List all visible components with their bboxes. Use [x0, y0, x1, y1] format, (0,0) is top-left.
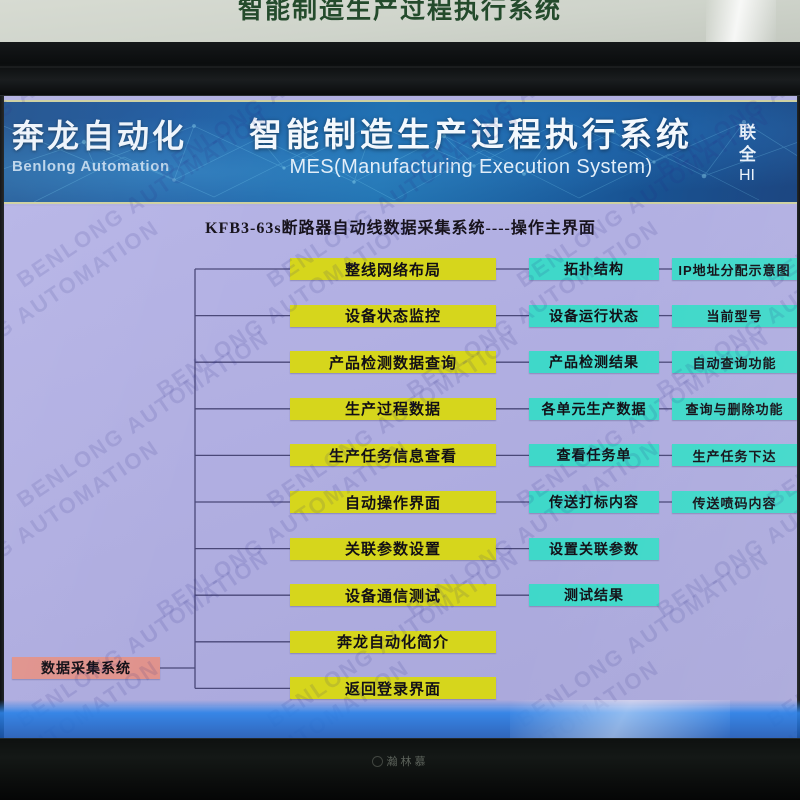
- menu-item-level1-8[interactable]: 奔龙自动化简介: [290, 631, 496, 653]
- wall-sign-text: 智能制造生产过程执行系统: [0, 0, 800, 26]
- menu-item-level2-4[interactable]: 查看任务单: [529, 444, 659, 466]
- menu-item-level3-1[interactable]: 当前型号: [672, 305, 797, 327]
- menu-item-level2-6[interactable]: 设置关联参数: [529, 538, 659, 560]
- system-title-cn: 智能制造生产过程执行系统: [236, 116, 706, 154]
- menu-item-level1-2[interactable]: 产品检测数据查询: [290, 351, 496, 373]
- menu-item-level2-3[interactable]: 各单元生产数据: [529, 398, 659, 420]
- main-workspace: KFB3-63s断路器自动线数据采集系统----操作主界面 数据采集系统整线网络…: [4, 206, 797, 706]
- menu-item-level1-5[interactable]: 自动操作界面: [290, 491, 496, 513]
- monitor-brand-text: 瀚林慕: [387, 753, 429, 769]
- background-wall: 智能制造生产过程执行系统: [0, 0, 800, 44]
- menu-item-level2-2[interactable]: 产品检测结果: [529, 351, 659, 373]
- app-banner: 奔龙自动化 Benlong Automation 智能制造生产过程执行系统 ME…: [4, 100, 797, 204]
- menu-tree-diagram: 数据采集系统整线网络布局拓扑结构IP地址分配示意图设备状态监控设备运行状态当前型…: [4, 206, 797, 706]
- system-title-en: MES(Manufacturing Execution System): [236, 156, 706, 179]
- logo-ring-icon: [372, 756, 383, 767]
- banner-right-line3: HI: [739, 166, 795, 186]
- menu-item-level1-4[interactable]: 生产任务信息查看: [290, 444, 496, 466]
- menu-item-level3-2[interactable]: 自动查询功能: [672, 351, 797, 373]
- menu-item-level1-9[interactable]: 返回登录界面: [290, 677, 496, 699]
- menu-item-level1-6[interactable]: 关联参数设置: [290, 538, 496, 560]
- company-name-cn: 奔龙自动化: [12, 120, 222, 154]
- monitor-bezel-top: [0, 42, 800, 96]
- company-name-en: Benlong Automation: [12, 158, 222, 175]
- menu-item-level2-5[interactable]: 传送打标内容: [529, 491, 659, 513]
- menu-item-level2-1[interactable]: 设备运行状态: [529, 305, 659, 327]
- menu-item-level3-4[interactable]: 生产任务下达: [672, 444, 797, 466]
- tree-root-node[interactable]: 数据采集系统: [12, 657, 160, 679]
- menu-item-level1-3[interactable]: 生产过程数据: [290, 398, 496, 420]
- menu-item-level2-7[interactable]: 测试结果: [529, 584, 659, 606]
- menu-item-level2-0[interactable]: 拓扑结构: [529, 258, 659, 280]
- banner-right-text: 联 全 HI: [739, 122, 795, 186]
- menu-item-level1-1[interactable]: 设备状态监控: [290, 305, 496, 327]
- monitor-bezel-bottom: 瀚林慕: [0, 738, 800, 800]
- menu-item-level3-0[interactable]: IP地址分配示意图: [672, 258, 797, 280]
- banner-right-line1: 联: [739, 122, 795, 144]
- company-brand: 奔龙自动化 Benlong Automation: [12, 120, 222, 175]
- monitor-screen: 奔龙自动化 Benlong Automation 智能制造生产过程执行系统 ME…: [4, 96, 797, 738]
- system-title-block: 智能制造生产过程执行系统 MES(Manufacturing Execution…: [236, 116, 706, 179]
- wall-glint: [706, 0, 776, 44]
- banner-right-line2: 全: [739, 144, 795, 166]
- menu-item-level1-0[interactable]: 整线网络布局: [290, 258, 496, 280]
- menu-item-level3-5[interactable]: 传送喷码内容: [672, 491, 797, 513]
- monitor-brand-logo: 瀚林慕: [0, 753, 800, 769]
- menu-item-level3-3[interactable]: 查询与删除功能: [672, 398, 797, 420]
- screenshot-scene: 智能制造生产过程执行系统: [0, 0, 800, 800]
- menu-item-level1-7[interactable]: 设备通信测试: [290, 584, 496, 606]
